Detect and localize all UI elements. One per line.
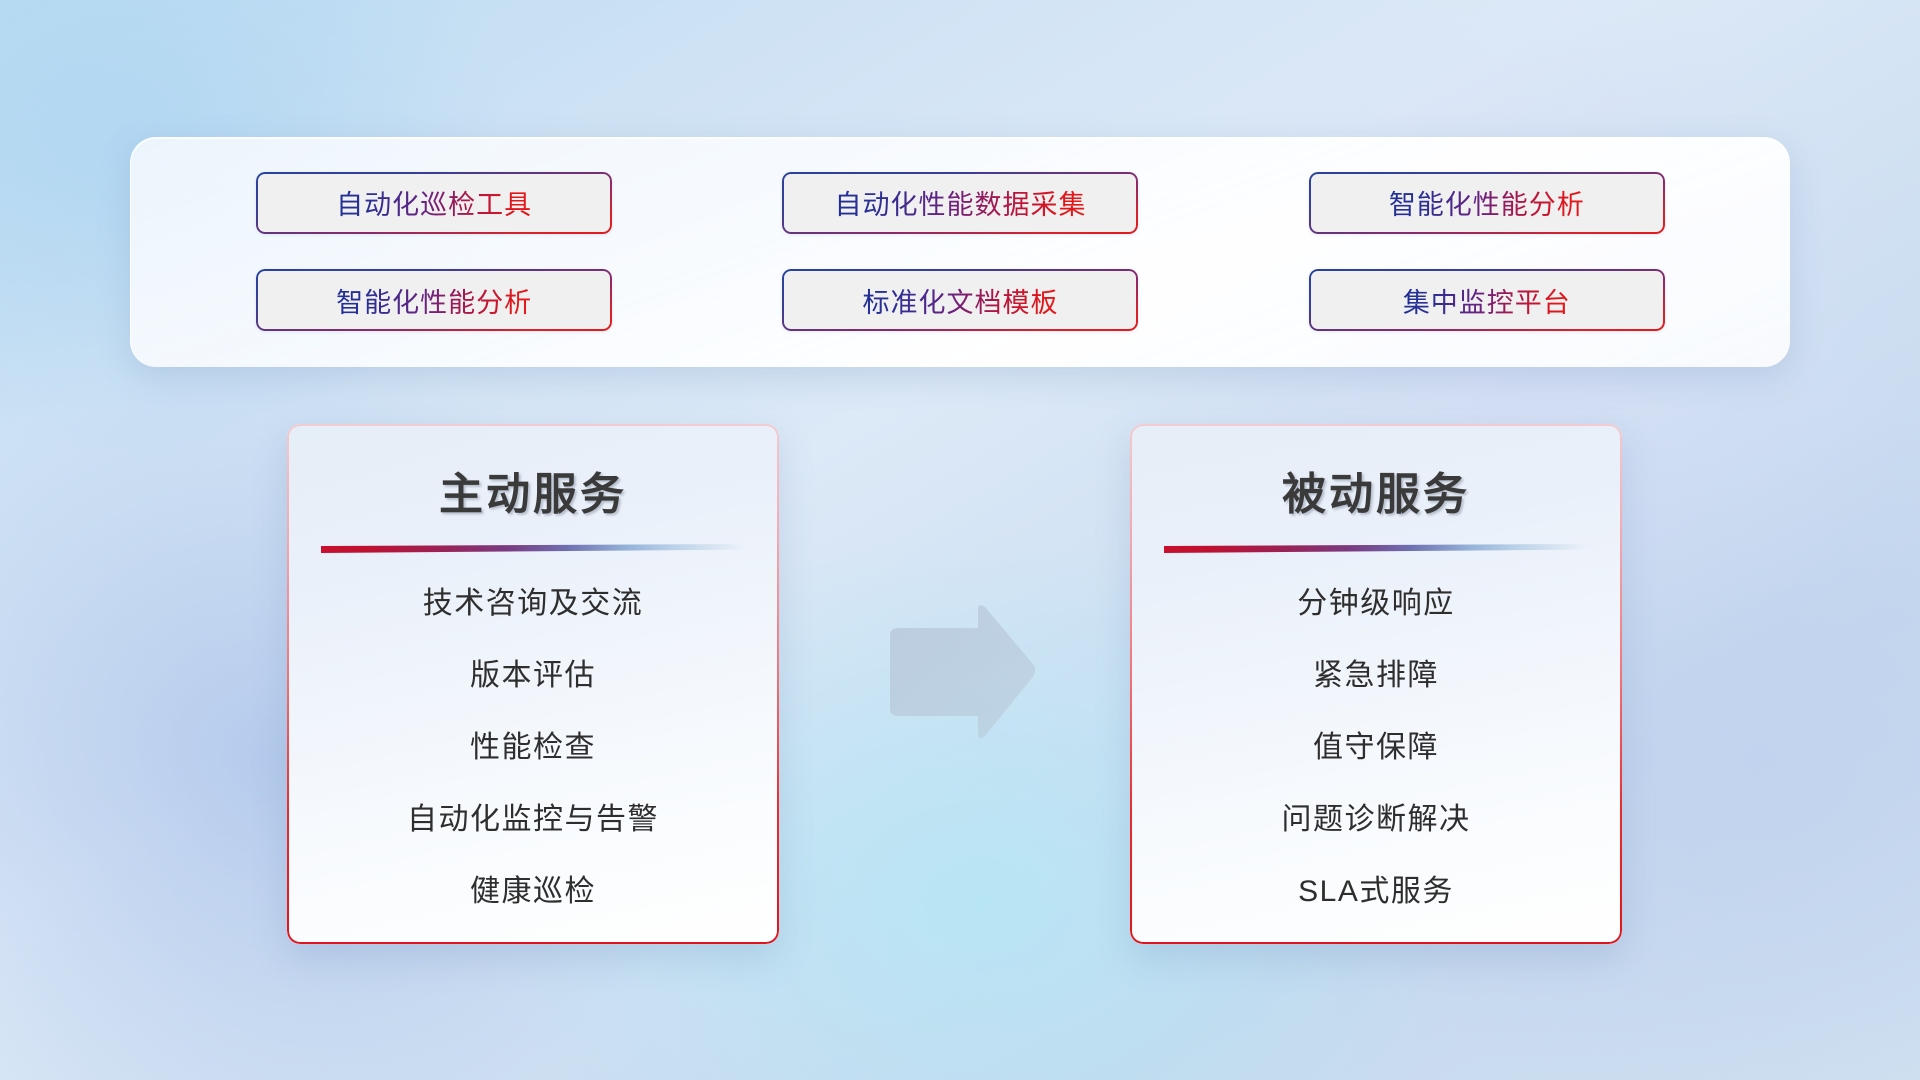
capability-pill-label: 自动化巡检工具	[336, 183, 532, 222]
capability-pill-6[interactable]: 集中监控平台	[1309, 269, 1665, 331]
capability-pill-5[interactable]: 标准化文档模板	[782, 269, 1138, 331]
capability-pill-4[interactable]: 智能化性能分析	[256, 269, 612, 331]
capability-pill-label: 集中监控平台	[1403, 281, 1571, 320]
capability-pill-label: 智能化性能分析	[336, 281, 532, 320]
arrow-right-icon	[880, 600, 1040, 745]
active-service-card-body: 主动服务 技术咨询及交流 版本评估 性能检查 自动化监控与告警 健康巡检	[287, 424, 779, 944]
active-service-card: 主动服务 技术咨询及交流 版本评估 性能检查 自动化监控与告警 健康巡检	[287, 424, 779, 944]
title-divider	[321, 544, 745, 553]
slide-canvas: 自动化巡检工具 自动化性能数据采集 智能化性能分析 智能化性能分析 标准化文档模…	[0, 0, 1920, 1080]
capability-pill-label: 标准化文档模板	[862, 281, 1058, 320]
active-service-list: 技术咨询及交流 版本评估 性能检查 自动化监控与告警 健康巡检	[321, 589, 745, 918]
list-item: 分钟级响应	[1297, 589, 1455, 619]
list-item: SLA式服务	[1298, 877, 1454, 907]
capability-pill-1[interactable]: 自动化巡检工具	[256, 172, 612, 234]
list-item: 自动化监控与告警	[407, 805, 659, 835]
passive-service-title: 被动服务	[1282, 458, 1470, 522]
title-divider	[1164, 544, 1588, 553]
passive-service-list: 分钟级响应 紧急排障 值守保障 问题诊断解决 SLA式服务	[1164, 589, 1588, 918]
capability-pill-2[interactable]: 自动化性能数据采集	[782, 172, 1138, 234]
passive-service-card-body: 被动服务 分钟级响应 紧急排障 值守保障 问题诊断解决 SLA式服务	[1130, 424, 1622, 944]
active-service-title: 主动服务	[439, 458, 627, 522]
capability-pill-3[interactable]: 智能化性能分析	[1309, 172, 1665, 234]
capability-pill-label: 自动化性能数据采集	[834, 183, 1086, 222]
list-item: 版本评估	[470, 661, 596, 691]
list-item: 值守保障	[1313, 733, 1439, 763]
capability-panel: 自动化巡检工具 自动化性能数据采集 智能化性能分析 智能化性能分析 标准化文档模…	[130, 137, 1790, 367]
list-item: 紧急排障	[1313, 661, 1439, 691]
list-item: 问题诊断解决	[1282, 805, 1471, 835]
list-item: 健康巡检	[470, 877, 596, 907]
list-item: 性能检查	[470, 733, 596, 763]
list-item: 技术咨询及交流	[423, 589, 644, 619]
passive-service-card: 被动服务 分钟级响应 紧急排障 值守保障 问题诊断解决 SLA式服务	[1130, 424, 1622, 944]
capability-pill-label: 智能化性能分析	[1389, 183, 1585, 222]
